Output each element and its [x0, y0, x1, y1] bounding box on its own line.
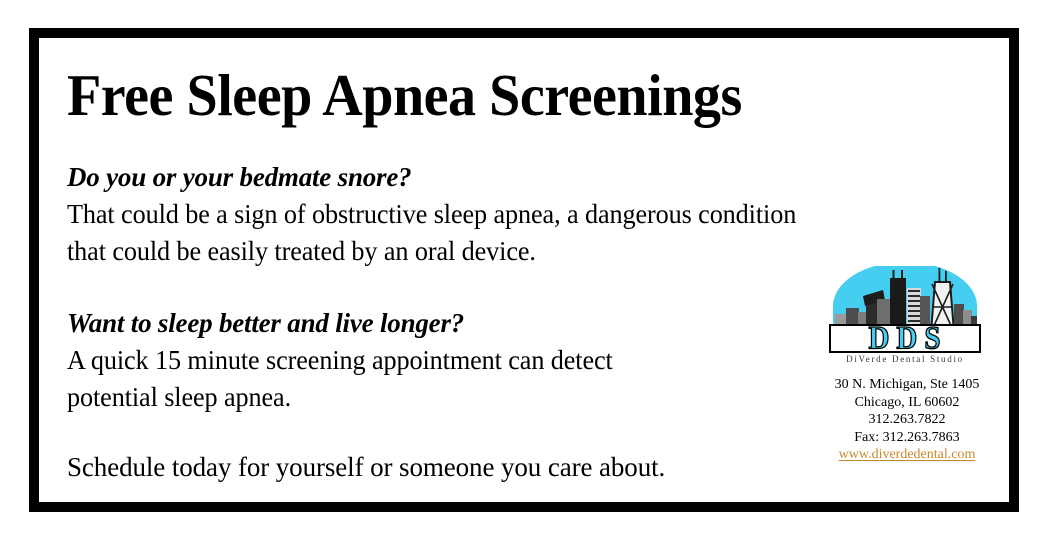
contact-fax: Fax: 312.263.7863 — [812, 429, 1002, 447]
body-line: potential sleep apnea. — [67, 379, 613, 416]
body-line: that could be easily treated by an oral … — [67, 233, 796, 270]
contact-city-state-zip: Chicago, IL 60602 — [812, 394, 1002, 412]
practice-logo: DDS DiVerde Dental Studio — [822, 266, 988, 366]
logo-initials: DDS — [831, 325, 979, 353]
section-snore-body: That could be a sign of obstructive slee… — [67, 196, 796, 270]
contact-website-link[interactable]: www.diverdedental.com — [839, 446, 976, 464]
contact-address: 30 N. Michigan, Ste 1405 — [812, 376, 1002, 394]
section-sleep-better-heading: Want to sleep better and live longer? — [67, 306, 630, 340]
logo-mark: DDS DiVerde Dental Studio — [827, 266, 983, 366]
section-sleep-better-body: A quick 15 minute screening appointment … — [67, 342, 613, 416]
body-line: A quick 15 minute screening appointment … — [67, 342, 613, 379]
flyer-content: Free Sleep Apnea Screenings Do you or yo… — [39, 38, 1009, 502]
section-closing: Schedule today for yourself or someone y… — [67, 450, 665, 484]
closing-call-to-action: Schedule today for yourself or someone y… — [67, 450, 665, 484]
section-sleep-better: Want to sleep better and live longer? A … — [67, 306, 630, 416]
section-snore-heading: Do you or your bedmate snore? — [67, 160, 819, 194]
flyer-border-frame: Free Sleep Apnea Screenings Do you or yo… — [29, 28, 1019, 512]
contact-phone: 312.263.7822 — [812, 411, 1002, 429]
logo-tagline: DiVerde Dental Studio — [827, 354, 983, 365]
section-snore: Do you or your bedmate snore? That could… — [67, 160, 819, 270]
flyer-canvas: Free Sleep Apnea Screenings Do you or yo… — [0, 0, 1050, 549]
chicago-skyline-icon — [833, 266, 977, 332]
page-title: Free Sleep Apnea Screenings — [67, 63, 742, 127]
body-line: That could be a sign of obstructive slee… — [67, 196, 796, 233]
contact-block: 30 N. Michigan, Ste 1405 Chicago, IL 606… — [812, 376, 1002, 464]
contact-website-line: www.diverdedental.com — [812, 446, 1002, 464]
logo-initials-box: DDS — [829, 324, 981, 353]
